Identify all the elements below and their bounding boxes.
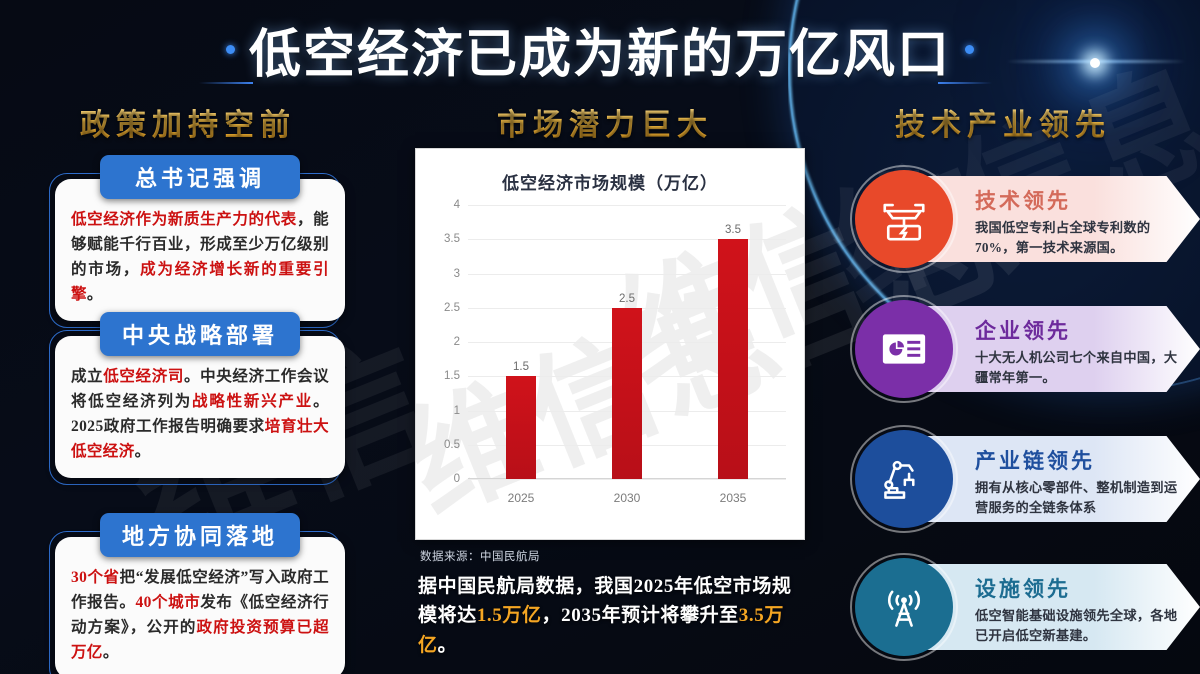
policy-card-badge: 地方协同落地 [100, 513, 300, 557]
policy-card-badge: 中央战略部署 [100, 312, 300, 356]
chart-y-tick: 0 [454, 473, 460, 485]
robot-arm-icon [855, 430, 953, 528]
chart-y-tick: 4 [454, 199, 460, 211]
market-summary-text: 据中国民航局数据，我国2025年低空市场规模将达1.5万亿，2035年预计将攀升… [418, 572, 808, 660]
advantage-item: 企业领先 十大无人机公司七个来自中国，大疆常年第一。 [855, 298, 1200, 402]
chart-bar [506, 376, 536, 479]
chart-x-tick: 2030 [614, 491, 641, 505]
advantage-desc: 拥有从核心零部件、整机制造到运营服务的全链条体系 [975, 478, 1184, 518]
chart-y-tick: 3 [454, 268, 460, 280]
chart-bar-label: 3.5 [725, 224, 741, 239]
chart-y-tick: 1.5 [444, 370, 460, 382]
column-header-technology: 技术产业领先 [895, 100, 1111, 144]
chart-plot-area: 00.511.522.533.541.520252.520303.52035 [468, 205, 786, 479]
chart-gridline [468, 479, 786, 480]
chart-y-tick: 2.5 [444, 302, 460, 314]
chart-y-tick: 1 [454, 405, 460, 417]
chart-bar-label: 2.5 [619, 293, 635, 308]
advantage-banner: 企业领先 十大无人机公司七个来自中国，大疆常年第一。 [921, 306, 1200, 392]
advantage-title: 设施领先 [975, 573, 1184, 603]
chart-x-tick: 2035 [720, 491, 747, 505]
chart-y-tick: 2 [454, 336, 460, 348]
title-left-decoration [226, 45, 235, 54]
advantage-desc: 十大无人机公司七个来自中国，大疆常年第一。 [975, 348, 1184, 388]
advantage-item: 设施领先 低空智能基础设施领先全球，各地已开启低空新基建。 [855, 556, 1200, 660]
chart-bar [718, 239, 748, 479]
chart-bar-label: 1.5 [513, 361, 529, 376]
chart-title: 低空经济市场规模（万亿） [416, 169, 804, 194]
policy-card-body: 30个省把“发展低空经济”写入政府工作报告。40个城市发布《低空经济行动方案》，… [55, 537, 345, 674]
title-right-decoration [965, 45, 974, 54]
chart-x-tick: 2025 [508, 491, 535, 505]
column-header-policy: 政策加持空前 [80, 100, 296, 144]
infographic-canvas: 维信息 维信息 维信息 低空经济已成为新的万亿风口 政策加持空前 市场潜力巨大 … [0, 0, 1200, 674]
policy-card: 总书记强调 低空经济作为新质生产力的代表，能够赋能千行百业，形成至少万亿级别的市… [55, 155, 345, 321]
column-header-market: 市场潜力巨大 [497, 100, 713, 144]
chart-bar [612, 308, 642, 479]
chart-y-tick: 3.5 [444, 233, 460, 245]
chart-gridline [468, 205, 786, 206]
policy-card-badge: 总书记强调 [100, 155, 300, 199]
title-bar: 低空经济已成为新的万亿风口 [0, 14, 1200, 84]
advantage-item: 产业链领先 拥有从核心零部件、整机制造到运营服务的全链条体系 [855, 428, 1200, 532]
policy-card: 地方协同落地 30个省把“发展低空经济”写入政府工作报告。40个城市发布《低空经… [55, 513, 345, 674]
policy-card-body: 成立低空经济司。中央经济工作会议将低空经济列为战略性新兴产业。2025政府工作报… [55, 336, 345, 478]
advantage-title: 产业链领先 [975, 445, 1184, 475]
policy-card-body: 低空经济作为新质生产力的代表，能够赋能千行百业，形成至少万亿级别的市场，成为经济… [55, 179, 345, 321]
market-size-chart: 维信息 维信息 低空经济市场规模（万亿） 00.511.522.533.541.… [415, 148, 805, 540]
chart-source-note: 数据来源：中国民航局 [420, 548, 540, 564]
presentation-chart-icon [855, 300, 953, 398]
advantage-title: 企业领先 [975, 315, 1184, 345]
advantage-banner: 设施领先 低空智能基础设施领先全球，各地已开启低空新基建。 [921, 564, 1200, 650]
policy-card: 中央战略部署 成立低空经济司。中央经济工作会议将低空经济列为战略性新兴产业。20… [55, 312, 345, 478]
advantage-title: 技术领先 [975, 185, 1184, 215]
advantage-item: 技术领先 我国低空专利占全球专利数的70%，第一技术来源国。 [855, 168, 1200, 272]
advantage-banner: 产业链领先 拥有从核心零部件、整机制造到运营服务的全链条体系 [921, 436, 1200, 522]
radio-tower-icon [855, 558, 953, 656]
advantage-desc: 低空智能基础设施领先全球，各地已开启低空新基建。 [975, 606, 1184, 646]
page-title: 低空经济已成为新的万亿风口 [249, 12, 951, 87]
drone-battery-icon [855, 170, 953, 268]
advantage-desc: 我国低空专利占全球专利数的70%，第一技术来源国。 [975, 218, 1184, 258]
chart-y-tick: 0.5 [444, 439, 460, 451]
advantage-banner: 技术领先 我国低空专利占全球专利数的70%，第一技术来源国。 [921, 176, 1200, 262]
